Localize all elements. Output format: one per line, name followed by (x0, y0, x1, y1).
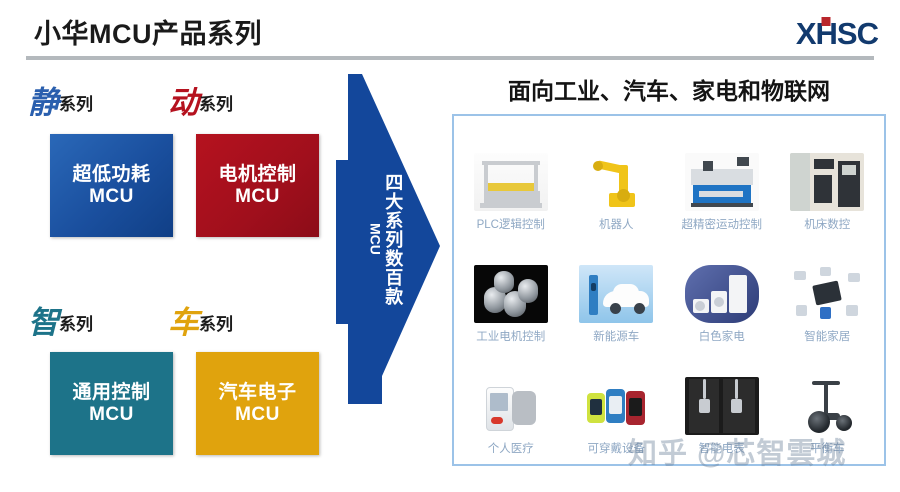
series-suffix: 系列 (199, 95, 233, 114)
series-glyph: 静 (28, 85, 58, 121)
card-line-2: MCU (89, 404, 134, 426)
applications-heading: 面向工业、汽车、家电和物联网 (452, 72, 886, 106)
application-cell[interactable]: 机床数控 (775, 122, 881, 234)
series-suffix: 系列 (199, 315, 233, 334)
series-glyph: 车 (168, 305, 198, 341)
center-arrow: MCU 四大系列数百款 (320, 74, 450, 404)
card-line-2: MCU (89, 186, 134, 208)
arrow-text-group: MCU 四大系列数百款 (320, 74, 450, 404)
product-card-ultra-low-power[interactable]: 超低功耗 MCU (50, 134, 173, 237)
application-cell[interactable]: 机器人 (564, 122, 670, 234)
card-line-2: MCU (235, 186, 280, 208)
wear-thumbnail-icon (579, 377, 653, 435)
application-caption: PLC逻辑控制 (477, 216, 545, 232)
cnc-thumbnail-icon (790, 153, 864, 211)
series-label-jing: 静系列 (28, 88, 93, 119)
logo-text-post: SC (837, 16, 878, 51)
card-line-2: MCU (235, 404, 280, 426)
header-divider (26, 56, 874, 60)
application-cell[interactable]: 超精密运动控制 (669, 122, 775, 234)
series-label-zhi: 智系列 (28, 308, 93, 339)
series-glyph: 智 (28, 305, 58, 341)
application-cell[interactable]: 智能家居 (775, 234, 881, 346)
logo-text-pre: X (796, 16, 816, 51)
product-card-general-control[interactable]: 通用控制 MCU (50, 352, 173, 455)
page-title: 小华MCU产品系列 (34, 12, 262, 51)
motor-thumbnail-icon (474, 265, 548, 323)
ev-thumbnail-icon (579, 265, 653, 323)
application-caption: 白色家电 (699, 328, 745, 344)
application-cell[interactable]: 白色家电 (669, 234, 775, 346)
card-line-1: 超低功耗 (72, 164, 150, 186)
application-cell[interactable]: 个人医疗 (458, 346, 564, 458)
lathe-thumbnail-icon (685, 153, 759, 211)
logo-text-mid: H (816, 18, 837, 49)
series-suffix: 系列 (59, 315, 93, 334)
smart-thumbnail-icon (790, 265, 864, 323)
bp-thumbnail-icon (474, 377, 548, 435)
card-line-1: 电机控制 (218, 164, 296, 186)
series-suffix: 系列 (59, 95, 93, 114)
product-card-motor-control[interactable]: 电机控制 MCU (196, 134, 319, 237)
application-caption: 机器人 (599, 216, 634, 232)
arrow-subtext: MCU (368, 223, 383, 255)
application-cell[interactable]: PLC逻辑控制 (458, 122, 564, 234)
product-card-automotive[interactable]: 汽车电子 MCU (196, 352, 319, 455)
watermark: 知乎 @芯智雲城 (628, 430, 846, 472)
application-caption: 工业电机控制 (476, 328, 545, 344)
application-cell[interactable]: 新能源车 (564, 234, 670, 346)
xhsc-logo: XHSC (796, 18, 878, 49)
application-caption: 个人医疗 (488, 440, 534, 456)
seg-thumbnail-icon (790, 377, 864, 435)
arrow-maintext: 四大系列数百款 (383, 173, 402, 306)
robot-thumbnail-icon (579, 153, 653, 211)
series-glyph: 动 (168, 85, 198, 121)
applications-panel: PLC逻辑控制机器人超精密运动控制机床数控工业电机控制新能源车白色家电智能家居个… (452, 114, 886, 466)
card-line-1: 汽车电子 (218, 382, 296, 404)
meter-thumbnail-icon (685, 377, 759, 435)
series-label-dong: 动系列 (168, 88, 233, 119)
series-label-che: 车系列 (168, 308, 233, 339)
application-caption: 超精密运动控制 (682, 216, 763, 232)
application-caption: 新能源车 (593, 328, 639, 344)
application-cell[interactable]: 工业电机控制 (458, 234, 564, 346)
slide-root: 小华MCU产品系列 XHSC 静系列 超低功耗 MCU 动系列 电机控制 MCU… (0, 0, 900, 492)
application-caption: 智能家居 (804, 328, 850, 344)
home-thumbnail-icon (685, 265, 759, 323)
applications-grid: PLC逻辑控制机器人超精密运动控制机床数控工业电机控制新能源车白色家电智能家居个… (458, 122, 880, 458)
application-caption: 机床数控 (804, 216, 850, 232)
card-line-1: 通用控制 (72, 382, 150, 404)
plc-thumbnail-icon (474, 153, 548, 211)
